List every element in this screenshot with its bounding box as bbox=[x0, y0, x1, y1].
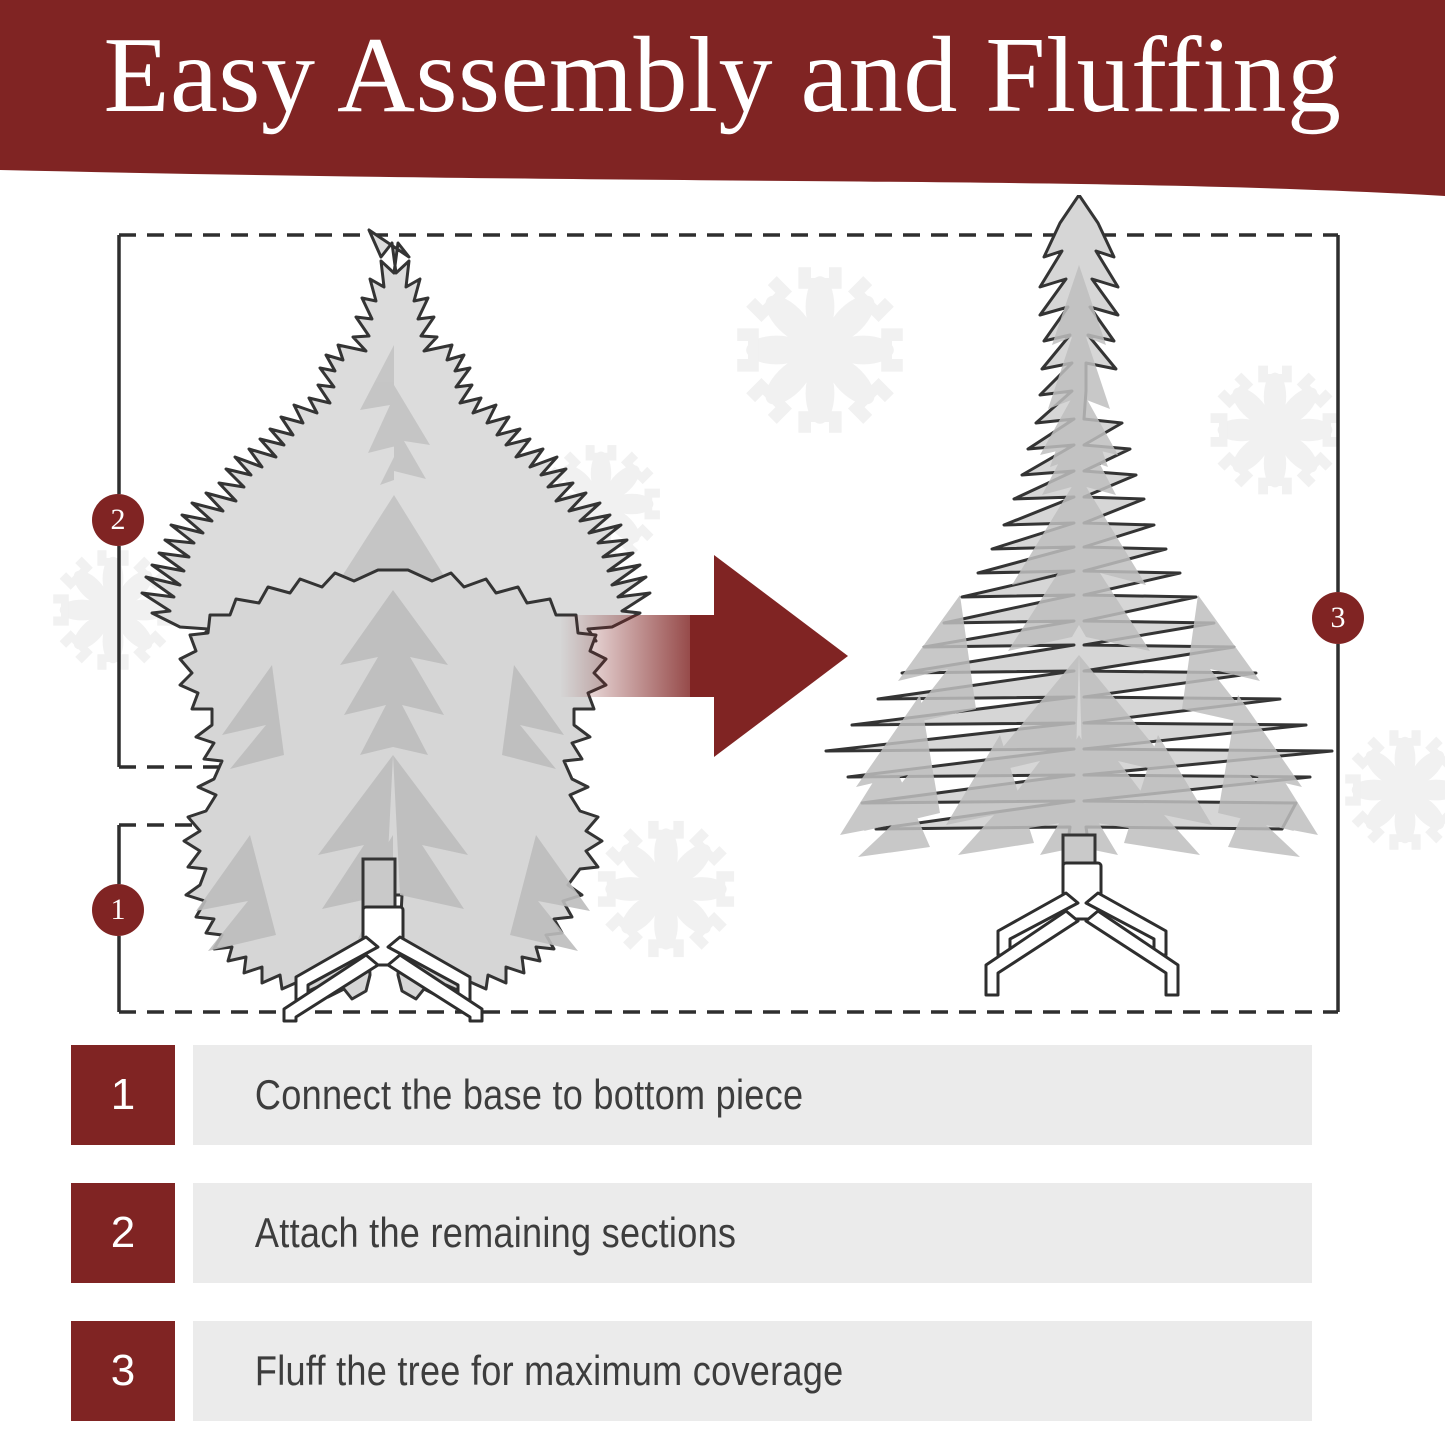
stand-collar-right bbox=[1063, 863, 1101, 919]
legend-text-2: Attach the remaining sections bbox=[193, 1209, 736, 1257]
infographic-page: Easy Assembly and Fluffing bbox=[0, 0, 1445, 1445]
tree-stand-right bbox=[986, 863, 1178, 995]
arrow-head bbox=[714, 555, 848, 757]
diagram-canvas bbox=[0, 195, 1445, 1035]
legend-row-3: 3 Fluff the tree for maximum coverage bbox=[71, 1321, 1445, 1421]
snowflake-icon bbox=[737, 267, 903, 433]
legend-row-1: 1 Connect the base to bottom piece bbox=[71, 1045, 1445, 1145]
legend-number-2: 2 bbox=[71, 1183, 175, 1283]
legend-row-2: 2 Attach the remaining sections bbox=[71, 1183, 1445, 1283]
legend-number-3: 3 bbox=[71, 1321, 175, 1421]
tree-assembly-diagram: 2 1 3 bbox=[0, 195, 1445, 1035]
legend-text-1: Connect the base to bottom piece bbox=[193, 1071, 803, 1119]
header-banner: Easy Assembly and Fluffing bbox=[0, 0, 1445, 200]
legend-steps: 1 Connect the base to bottom piece 2 Att… bbox=[0, 1040, 1445, 1440]
snowflake-icon bbox=[1211, 366, 1340, 495]
legend-bar-1: Connect the base to bottom piece bbox=[193, 1045, 1312, 1145]
page-title: Easy Assembly and Fluffing bbox=[0, 22, 1445, 130]
badge-step-2: 2 bbox=[92, 494, 144, 546]
legend-bar-2: Attach the remaining sections bbox=[193, 1183, 1312, 1283]
assembled-tree bbox=[826, 195, 1332, 995]
legend-bar-3: Fluff the tree for maximum coverage bbox=[193, 1321, 1312, 1421]
badge-step-3: 3 bbox=[1312, 592, 1364, 644]
legend-number-1: 1 bbox=[71, 1045, 175, 1145]
snowflake-icon bbox=[598, 821, 734, 957]
assembled-tree-shading bbox=[840, 265, 1318, 857]
legend-text-3: Fluff the tree for maximum coverage bbox=[193, 1347, 843, 1395]
snowflake-icon bbox=[1345, 730, 1445, 850]
badge-step-1: 1 bbox=[92, 884, 144, 936]
